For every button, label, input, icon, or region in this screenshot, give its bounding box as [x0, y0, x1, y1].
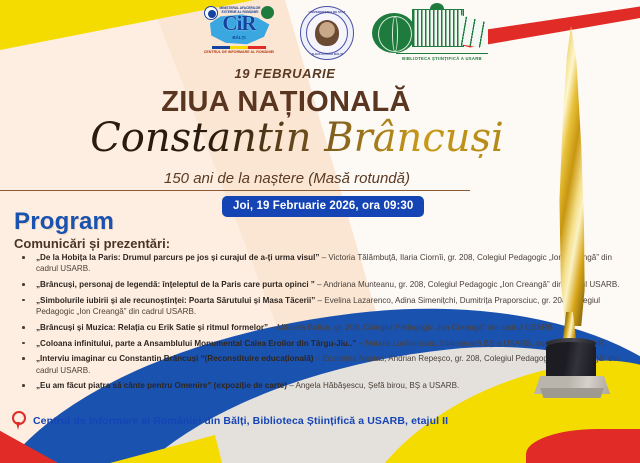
globe-icon [372, 13, 416, 53]
bullet-icon [22, 299, 25, 302]
bullet-icon [22, 283, 25, 286]
building-icon [412, 9, 464, 47]
library-divider [396, 53, 488, 54]
bird-in-space-sculpture [528, 26, 628, 396]
program-item-title: „Brâncuși, personaj de legendă: înțelept… [36, 280, 315, 289]
program-item-title: „Eu am făcut piatra să cânte pentru Omen… [36, 381, 287, 390]
program-item-presenters: – Angela Hăbășescu, Șefă birou, BȘ a USA… [287, 381, 459, 390]
program-item-title: „Brâncuși și Muzica: Relația cu Erik Sat… [36, 323, 268, 332]
open-book-icon [460, 15, 488, 49]
romania-flag-bar [212, 46, 266, 49]
event-datetime-badge: Joi, 19 Februarie 2026, ora 09:30 [222, 196, 424, 217]
program-subheading: Comunicări și prezentări: [14, 236, 170, 251]
header-divider [0, 190, 470, 191]
cir-balti-logo: MINISTERUL AFACERILOR EXTERNE AL ROMÂNIE… [196, 5, 282, 61]
footer: Centrul de Informare al României din Băl… [12, 411, 448, 430]
seal-ring-text: UNIVERSITATEA DE STAT ALECU RUSSO BĂLȚI [302, 8, 352, 58]
sculpture-plinth-face [538, 388, 606, 398]
library-caption: BIBLIOTECA ȘTIINȚIFICĂ A USARB [396, 56, 488, 61]
program-item-title: „Interviu imaginar cu Constantin Brâncuș… [36, 354, 313, 363]
program-heading: Program [14, 208, 114, 236]
cir-caption: CENTRUL DE INFORMARE AL ROMÂNIEI [196, 50, 282, 55]
program-item-title: „De la Hobița la Paris: Drumul parcurs p… [36, 253, 319, 262]
seal-bottom-text: ALECU RUSSO BĂLȚI [302, 52, 352, 56]
program-item-presenters: – Mihaela Bolica, gr. 208, Colegiul Peda… [268, 323, 555, 332]
poster-canvas: MINISTERUL AFACERILOR EXTERNE AL ROMÂNIE… [0, 0, 640, 463]
library-logo: BIBLIOTECA ȘTIINȚIFICĂ A USARB [372, 7, 488, 59]
seal-top-text: UNIVERSITATEA DE STAT [302, 10, 352, 14]
bullet-icon [22, 326, 25, 329]
program-item-title: „Coloana infinitului, parte a Ansamblulu… [36, 339, 356, 348]
usarb-seal-logo: UNIVERSITATEA DE STAT ALECU RUSSO BĂLȚI [300, 6, 354, 60]
bullet-icon [22, 256, 25, 259]
bullet-icon [22, 384, 25, 387]
cir-city: BĂLȚI [196, 35, 282, 40]
logo-row: MINISTERUL AFACERILOR EXTERNE AL ROMÂNIE… [196, 4, 496, 62]
cir-acronym: CiR [196, 11, 282, 36]
location-pin-icon [12, 411, 26, 430]
bullet-icon [22, 357, 25, 360]
sculpture-bird-form [552, 26, 586, 326]
venue-text: Centrul de Informare al României din Băl… [33, 415, 448, 427]
bullet-icon [22, 342, 25, 345]
program-item-title: „Simbolurile iubirii și ale recunoștințe… [36, 296, 315, 305]
